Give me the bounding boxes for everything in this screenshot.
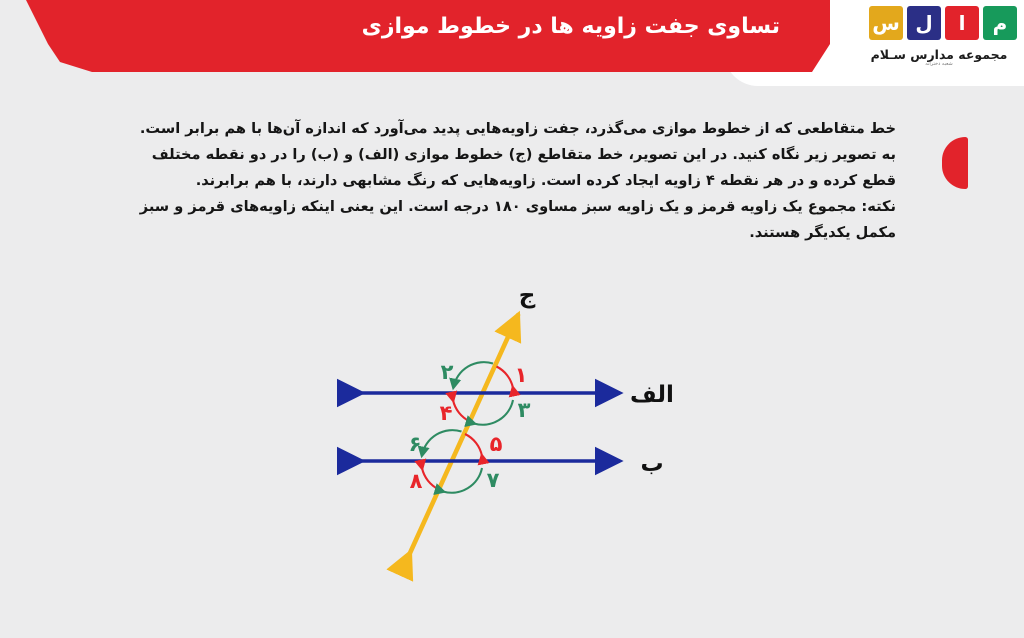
angle-label-5: ۵ [490,432,503,456]
angle-arc-4-red [453,400,470,422]
brand-logo: م ا ل س مجموعه مدارس سـلام شعبه دخترانه [835,6,1017,76]
logo-square-lam: ل [907,6,941,40]
logo-square-mim: م [983,6,1017,40]
angle-label-2: ۲ [441,360,454,384]
line-label-jim: ج [519,283,536,309]
body-paragraph: خط متقاطعی که از خطوط موازی می‌گذرد، جفت… [136,116,896,194]
body-text-block: خط متقاطعی که از خطوط موازی می‌گذرد، جفت… [136,116,896,246]
angle-label-1: ۱ [515,363,528,387]
angle-label-6: ۶ [409,432,422,456]
logo-square-alef: ا [945,6,979,40]
logo-subtitle: مجموعه مدارس سـلام [861,47,1017,62]
angle-arc-1-red [497,367,514,389]
angle-label-7: ۷ [487,468,500,492]
line-label-be: ب [640,451,663,477]
angle-arc-5-red [465,434,482,456]
page-title: تساوی جفت زاویه ها در خطوط موازی [360,14,780,39]
body-note: نکته: مجموع یک زاویه قرمز و یک زاویه سبز… [136,194,896,246]
logo-square-row: م ا ل س [841,6,1017,40]
angle-label-4: ۴ [440,401,453,425]
header-banner: تساوی جفت زاویه ها در خطوط موازی م ا ل س… [0,0,1024,86]
angle-label-3: ۳ [518,398,531,422]
angle-label-8: ۸ [410,469,423,493]
parallel-lines-diagram: ۱ ۲ ۳ ۴ ۵ ۶ ۷ ۸ الف ب ج [330,275,710,585]
slide-canvas: تساوی جفت زاویه ها در خطوط موازی م ا ل س… [0,0,1024,638]
logo-square-sin: س [869,6,903,40]
decorative-petal-shape [942,137,968,189]
line-label-alef: الف [630,382,674,408]
angle-arc-8-red [422,468,439,490]
